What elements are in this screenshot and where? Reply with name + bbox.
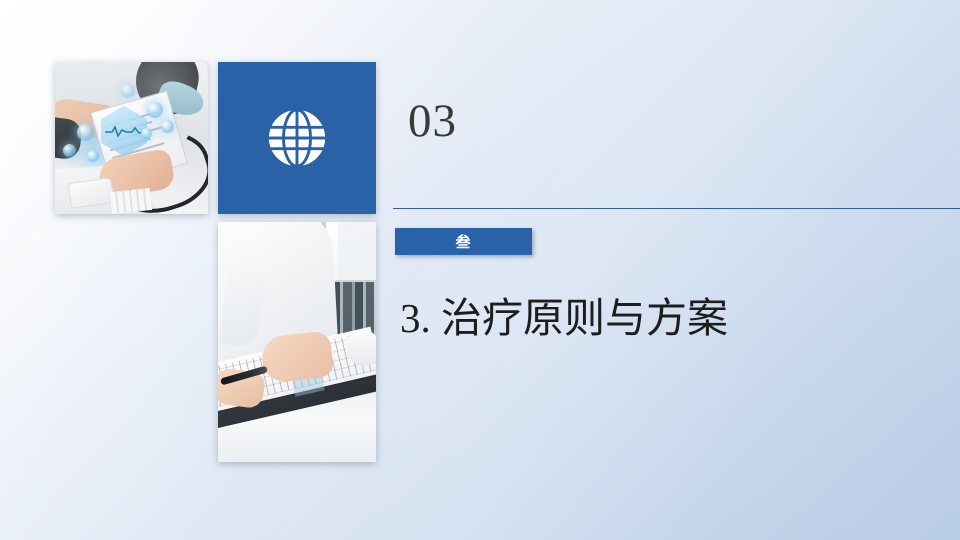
globe-tile [218, 62, 376, 214]
slide-canvas: 03 叁 3. 治疗原则与方案 [0, 0, 960, 540]
doctor-clipboard-photo [218, 222, 376, 462]
photo-hologram-bubble [77, 124, 94, 141]
photo-hologram-bubble [87, 150, 99, 162]
medical-consultation-photo [55, 62, 208, 214]
photo-hologram-bubble [121, 84, 135, 98]
section-title: 3. 治疗原则与方案 [400, 294, 728, 343]
photo-hologram-bubble [147, 102, 163, 118]
ecg-line-icon [105, 124, 145, 138]
section-badge: 叁 [395, 228, 532, 255]
globe-icon [261, 102, 333, 174]
photo-pill-strip [110, 188, 152, 214]
section-number: 03 [408, 98, 457, 145]
section-badge-label: 叁 [455, 231, 471, 252]
divider-rule [393, 208, 960, 209]
photo-hologram-bubble [63, 144, 76, 157]
